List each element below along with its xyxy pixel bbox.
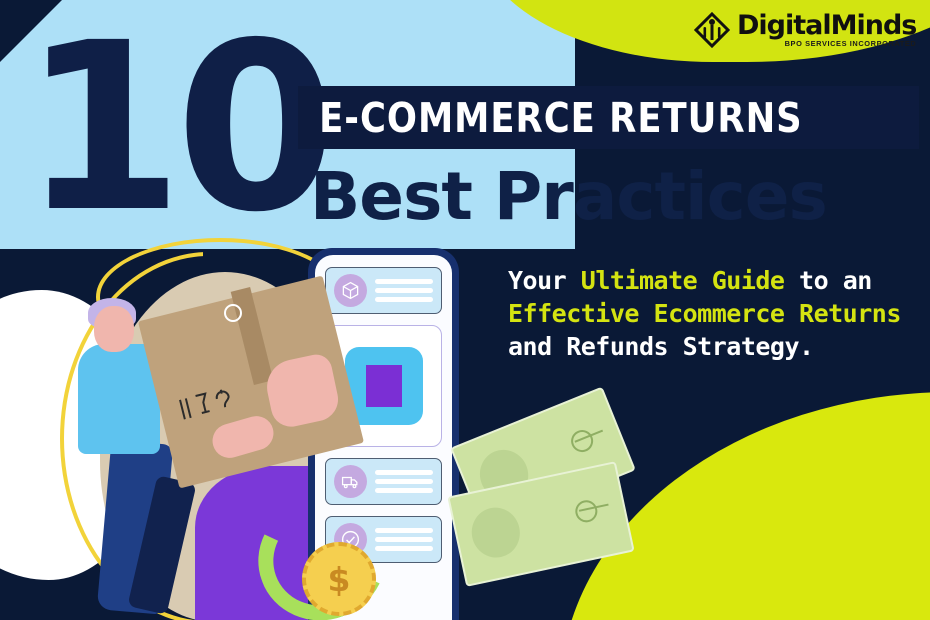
list-item-lines	[375, 470, 433, 493]
banknote-seal-icon	[573, 498, 599, 524]
diamond-emblem-icon	[694, 12, 730, 48]
lede-paragraph: Your Ultimate Guide to an Effective Ecom…	[508, 264, 916, 363]
refund-cycle-icon: $	[258, 498, 386, 620]
coin-icon: $	[302, 542, 376, 616]
banknote-seal-icon	[568, 427, 597, 456]
logo-tagline: BPO SERVICES INCORPORATED	[737, 40, 916, 47]
box-icon	[334, 274, 367, 307]
list-item-lines	[375, 279, 433, 302]
hero-chip	[366, 365, 402, 407]
lede-part-1: Your	[508, 266, 581, 295]
person-head	[94, 306, 134, 352]
lede-highlight-1: Ultimate Guide	[581, 266, 785, 295]
headline-subtitle: Best Practices	[310, 162, 925, 232]
lede-part-3: and Refunds Strategy.	[508, 332, 814, 361]
list-item[interactable]	[325, 267, 442, 314]
lede-highlight-2: Effective Ecommerce Returns	[508, 299, 901, 328]
person-carrying-box-illustration: $	[72, 292, 334, 620]
headline-band-text: E-COMMERCE RETURNS	[298, 94, 803, 142]
lede-part-2: to an	[784, 266, 871, 295]
logo-name: DigitalMinds	[737, 12, 916, 39]
truck-icon	[334, 465, 367, 498]
brand-logo: DigitalMinds BPO SERVICES INCORPORATED	[694, 8, 922, 52]
cash-banknotes	[455, 408, 675, 598]
headline-number: 10	[22, 12, 329, 244]
logo-text-group: DigitalMinds BPO SERVICES INCORPORATED	[737, 12, 916, 47]
decor-ring-icon	[224, 304, 242, 322]
headline-band: E-COMMERCE RETURNS	[298, 86, 919, 149]
banknote-portrait-oval	[467, 503, 524, 562]
infographic-poster: 10 E-COMMERCE RETURNS Best Practices You…	[0, 0, 930, 620]
